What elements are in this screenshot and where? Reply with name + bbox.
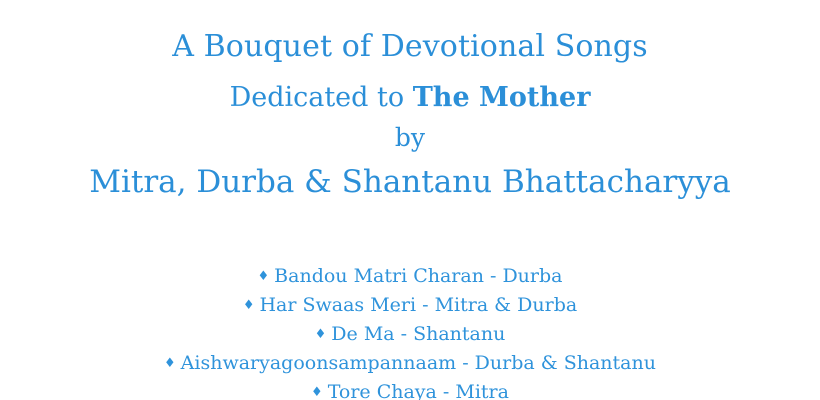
devotional-songs-poster: A Bouquet of Devotional Songs Dedicated … [0, 0, 820, 400]
song-label: De Ma - Shantanu [331, 323, 505, 345]
list-item: ♦Bandou Matri Charan - Durba [0, 262, 820, 291]
by-label: by [0, 122, 820, 154]
dedication-prefix: Dedicated to [230, 82, 413, 113]
song-label: Har Swaas Meri - Mitra & Durba [259, 294, 577, 316]
list-item: ♦Har Swaas Meri - Mitra & Durba [0, 291, 820, 320]
song-list: ♦Bandou Matri Charan - Durba ♦Har Swaas … [0, 262, 820, 400]
song-label: Aishwaryagoonsampannaam - Durba & Shanta… [181, 352, 656, 374]
list-item: ♦Aishwaryagoonsampannaam - Durba & Shant… [0, 349, 820, 378]
song-label: Tore Chaya - Mitra [328, 381, 509, 400]
diamond-bullet-icon: ♦ [164, 356, 176, 371]
diamond-bullet-icon: ♦ [243, 298, 255, 313]
song-label: Bandou Matri Charan - Durba [274, 265, 562, 287]
diamond-bullet-icon: ♦ [315, 327, 327, 342]
diamond-bullet-icon: ♦ [258, 269, 270, 284]
title-block: A Bouquet of Devotional Songs Dedicated … [0, 28, 820, 202]
diamond-bullet-icon: ♦ [311, 385, 323, 400]
list-item: ♦De Ma - Shantanu [0, 320, 820, 349]
dedication-line: Dedicated to The Mother [0, 78, 820, 118]
poster-headline: A Bouquet of Devotional Songs [0, 28, 820, 66]
artist-names: Mitra, Durba & Shantanu Bhattacharyya [0, 162, 820, 202]
dedication-emphasis: The Mother [413, 82, 591, 113]
list-item: ♦Tore Chaya - Mitra [0, 378, 820, 400]
